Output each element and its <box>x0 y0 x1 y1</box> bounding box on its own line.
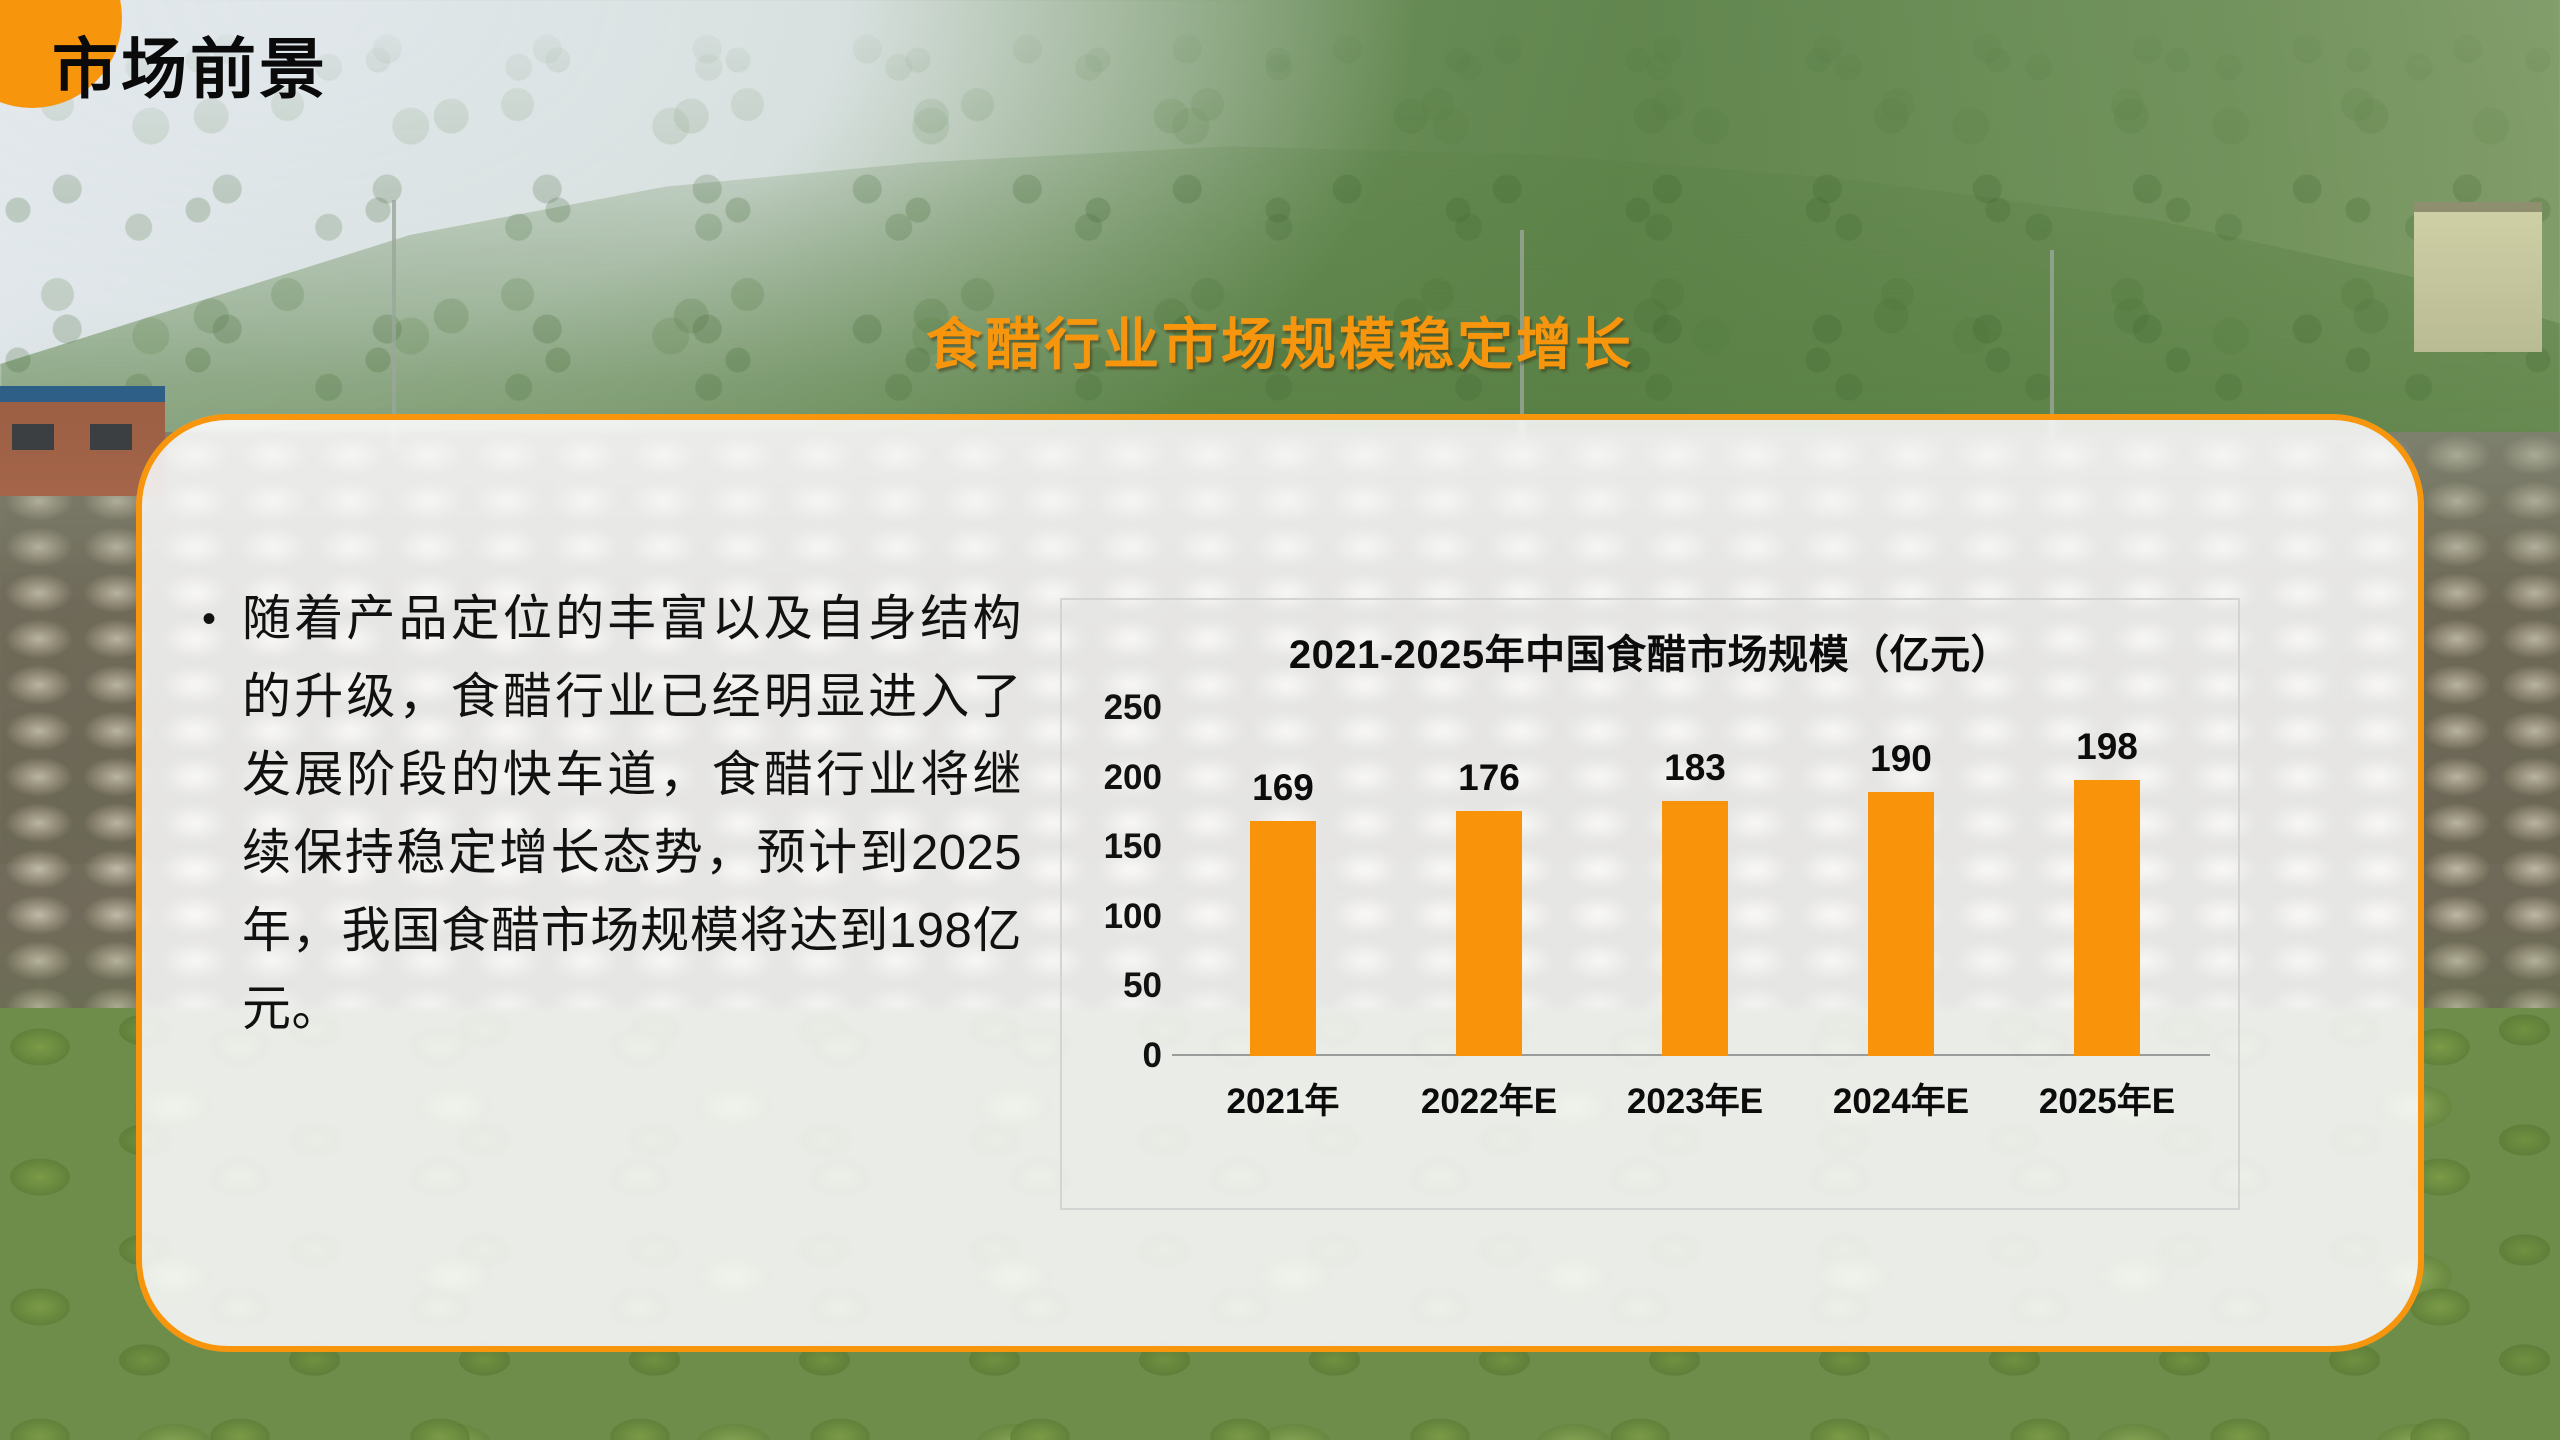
chart-data-label: 198 <box>2076 726 2138 768</box>
chart-y-tick: 200 <box>1104 758 1162 798</box>
chart-y-axis: 250200150100500 <box>1062 708 1172 1056</box>
chart-bar[interactable] <box>2074 780 2140 1056</box>
chart-bar[interactable] <box>1250 821 1316 1056</box>
bullet-paragraph: 随着产品定位的丰富以及自身结构的升级，食醋行业已经明显进入了发展阶段的快车道，食… <box>242 580 1022 1048</box>
page-title: 市场前景 <box>52 36 328 102</box>
chart-title: 2021-2025年中国食醋市场规模（亿元） <box>1062 622 2238 680</box>
chart-x-tick-label: 2022年E <box>1396 1073 1581 1124</box>
chart-bar-column[interactable]: 198 <box>2014 708 2199 1056</box>
chart-bar[interactable] <box>1868 792 1934 1056</box>
chart-data-label: 169 <box>1252 767 1314 809</box>
chart-panel: 2021-2025年中国食醋市场规模（亿元） 250200150100500 1… <box>1060 598 2240 1210</box>
chart-y-tick: 50 <box>1123 966 1162 1006</box>
chart-data-label: 183 <box>1664 747 1726 789</box>
slide-canvas: 市场前景 食醋行业市场规模稳定增长 • 随着产品定位的丰富以及自身结构的升级，食… <box>0 0 2560 1440</box>
chart-bar-column[interactable]: 190 <box>1808 708 1993 1056</box>
chart-bar-column[interactable]: 183 <box>1602 708 1787 1056</box>
chart-data-label: 176 <box>1458 757 1520 799</box>
chart-x-tick-label: 2025年E <box>2014 1073 2199 1124</box>
chart-y-tick: 100 <box>1104 897 1162 937</box>
chart-y-tick: 250 <box>1104 688 1162 728</box>
chart-bar[interactable] <box>1456 811 1522 1056</box>
chart-x-tick-label: 2024年E <box>1808 1073 1993 1124</box>
chart-bar-column[interactable]: 169 <box>1190 708 1375 1056</box>
bullet-marker-icon: • <box>202 580 216 1048</box>
chart-bar-column[interactable]: 176 <box>1396 708 1581 1056</box>
chart-x-tick-label: 2021年 <box>1190 1073 1375 1124</box>
bullet-list: • 随着产品定位的丰富以及自身结构的升级，食醋行业已经明显进入了发展阶段的快车道… <box>202 580 1022 1048</box>
chart-bar[interactable] <box>1662 801 1728 1056</box>
chart-y-tick: 0 <box>1143 1036 1162 1076</box>
chart-y-tick: 150 <box>1104 827 1162 867</box>
content-card: • 随着产品定位的丰富以及自身结构的升级，食醋行业已经明显进入了发展阶段的快车道… <box>136 414 2424 1352</box>
chart-x-tick-label: 2023年E <box>1602 1073 1787 1124</box>
chart-data-label: 190 <box>1870 738 1932 780</box>
chart-bars-group: 169176183190198 <box>1180 708 2210 1056</box>
section-subtitle: 食醋行业市场规模稳定增长 <box>0 300 2560 381</box>
chart-x-axis-labels: 2021年2022年E2023年E2024年E2025年E <box>1180 1072 2210 1124</box>
